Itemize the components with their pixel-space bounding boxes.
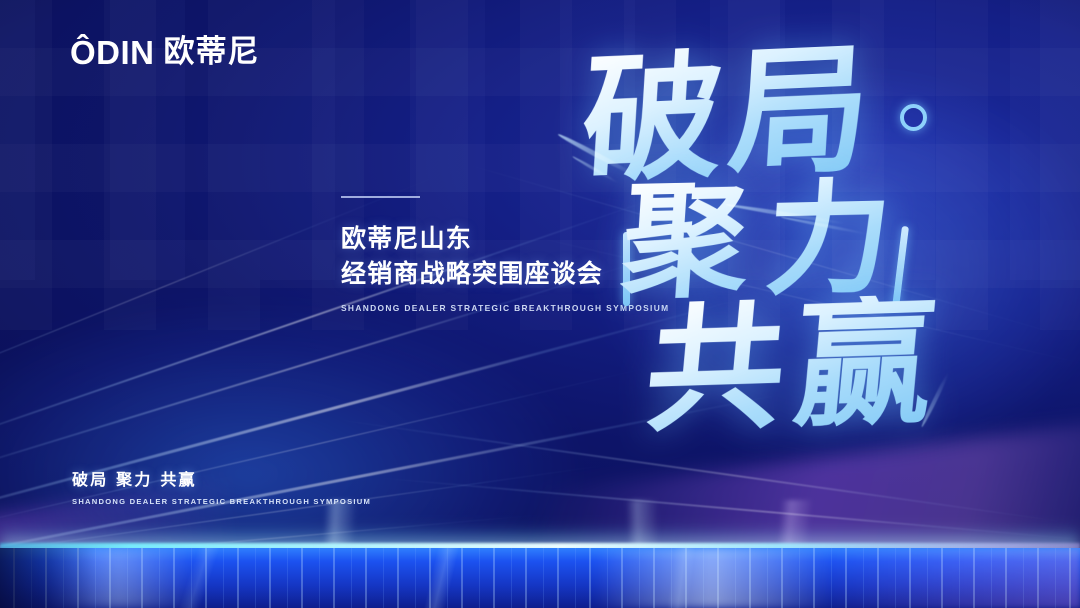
brand-logo-latin: ÔDIN bbox=[70, 36, 155, 69]
brand-logo: ÔDIN 欧蒂尼 bbox=[70, 36, 260, 69]
degree-ring-icon bbox=[900, 104, 927, 131]
event-backdrop-banner: ÔDIN 欧蒂尼 欧蒂尼山东 经销商战略突围座谈会 SHANDONG DEALE… bbox=[0, 0, 1080, 608]
footer-tagline-chinese: 破局 聚力 共赢 bbox=[72, 466, 371, 490]
brand-logo-chinese: 欧蒂尼 bbox=[164, 37, 260, 68]
floor-shadow-left bbox=[0, 548, 97, 608]
slogan-line-3: 共赢 bbox=[640, 293, 950, 440]
floor-highlight bbox=[594, 548, 832, 608]
stage-floor bbox=[0, 548, 1080, 608]
floor-purple-tint bbox=[821, 548, 1080, 608]
slogan-calligraphy: 破局 聚力 共赢 bbox=[575, 46, 995, 466]
title-divider-rule bbox=[341, 196, 420, 198]
